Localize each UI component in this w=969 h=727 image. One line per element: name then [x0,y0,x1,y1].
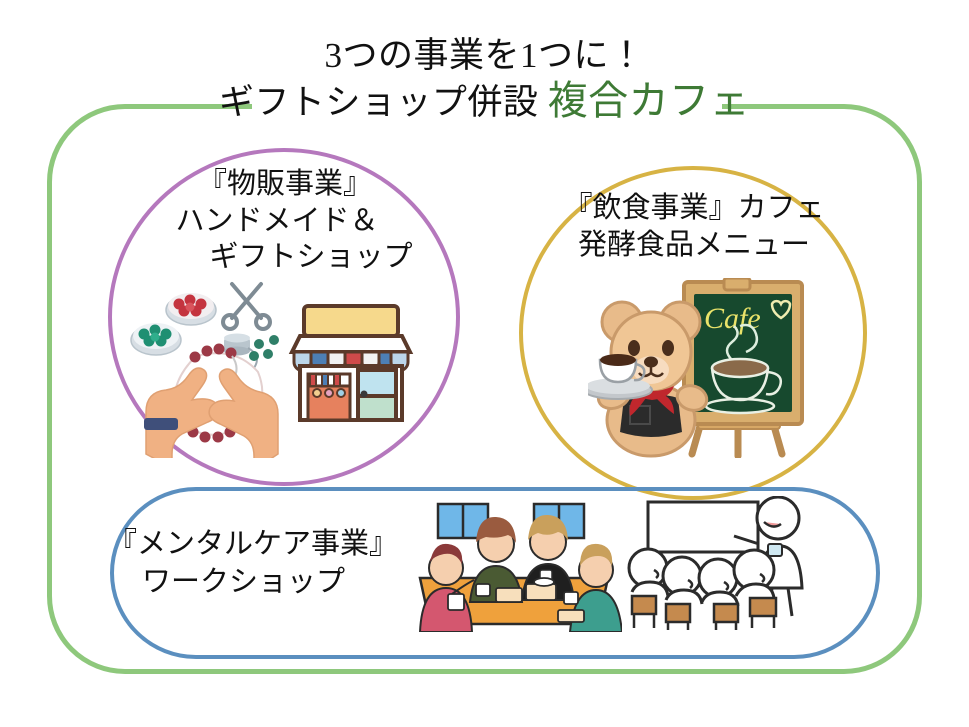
title-line-2-prefix: ギフトショップ併設 [219,83,548,122]
mental-line-2: ワークショップ [108,564,428,602]
gift-shop-storefront-icon [288,300,414,426]
title-line-2: ギフトショップ併設 複合カフェ [0,79,969,124]
mental-heading: 『メンタルケア事業』 [108,528,398,560]
title-accent-text: 複合カフェ [548,78,751,123]
segment-mental-label: 『メンタルケア事業』 ワークショップ [108,526,428,601]
retail-line-2: ハンドメイド＆ [120,203,450,240]
seminar-whiteboard-icon [622,496,828,630]
handmade-beading-icon [128,278,308,458]
retail-line-3: ギフトショップ [120,239,450,276]
food-heading: 『飲食事業』カフェ [563,192,824,224]
group-meeting-table-icon [412,496,622,632]
cafe-bear-waiter-icon: Cafe [588,278,818,458]
retail-heading: 『物販事業』 [198,168,372,200]
title-line-1: 3つの事業を1つに！ [0,36,969,75]
segment-food-label: 『飲食事業』カフェ 発酵食品メニュー [528,190,860,263]
svg-text:Cafe: Cafe [704,302,761,335]
page-title: 3つの事業を1つに！ ギフトショップ併設 複合カフェ [0,36,969,124]
diagram-canvas: 3つの事業を1つに！ ギフトショップ併設 複合カフェ 『物販事業』 ハンドメイド… [0,0,969,727]
food-line-2: 発酵食品メニュー [578,229,810,261]
segment-retail-label: 『物販事業』 ハンドメイド＆ ギフトショップ [120,166,450,276]
